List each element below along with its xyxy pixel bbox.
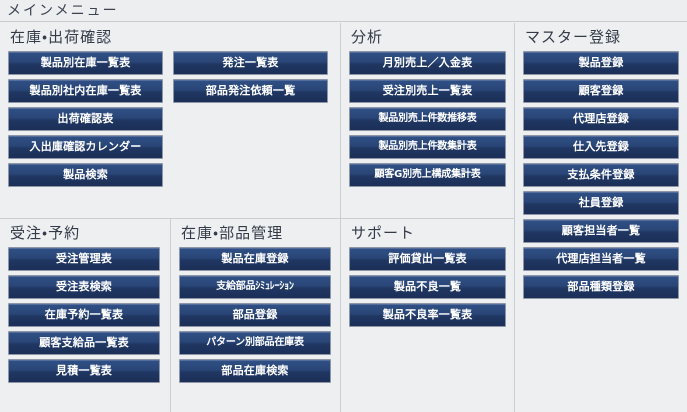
top-panel-row: 在庫・出荷確認 製品別在庫一覧表 製品別社内在庫一覧表 出荷確認表 入出庫確認カ… [0,23,514,218]
menu-button-parts-stock-by-pattern[interactable]: パターン別部品在庫表 [179,331,331,355]
menu-button-product-internal-stock-list[interactable]: 製品別社内在庫一覧表 [8,79,163,103]
panel-support: サポート 評価貸出一覧表 製品不良一覧 製品不良率一覧表 [340,219,514,412]
menu-button-evaluation-loan-list[interactable]: 評価貸出一覧表 [349,247,506,271]
left-column-area: 在庫・出荷確認 製品別在庫一覧表 製品別社内在庫一覧表 出荷確認表 入出庫確認カ… [0,23,514,412]
button-columns: 受注管理表 受注表検索 在庫予約一覧表 顧客支給品一覧表 見積一覧表 [8,247,162,383]
menu-button-product-defect-rate-list[interactable]: 製品不良率一覧表 [349,303,506,327]
menu-button-supplier-registration[interactable]: 仕入先登録 [523,135,679,159]
menu-button-parts-order-request-list[interactable]: 部品発注依頼一覧 [173,79,328,103]
menu-button-product-search[interactable]: 製品検索 [8,163,163,187]
button-column-primary: 製品在庫登録 支給部品ｼﾐｭﾚｰｼｮﾝ 部品登録 パターン別部品在庫表 部品在庫… [179,247,331,383]
menu-button-product-registration[interactable]: 製品登録 [523,51,679,75]
menu-button-stock-reservation-list[interactable]: 在庫予約一覧表 [8,303,160,327]
panel-inventory-parts: 在庫・部品管理 製品在庫登録 支給部品ｼﾐｭﾚｰｼｮﾝ 部品登録 パターン別部品… [170,219,340,412]
button-column-primary: 製品登録 顧客登録 代理店登録 仕入先登録 支払条件登録 社員登録 顧客担当者一… [523,51,679,299]
panel-title-inventory-parts: 在庫・部品管理 [181,225,332,242]
menu-button-agency-registration[interactable]: 代理店登録 [523,107,679,131]
panel-title-master-registration: マスター登録 [525,29,679,46]
page-title: メインメニュー [7,4,119,18]
menu-button-product-sales-count-trend[interactable]: 製品別売上件数推移表 [349,107,506,131]
panel-title-inventory-shipping: 在庫・出荷確認 [10,29,332,46]
menu-button-quotation-list[interactable]: 見積一覧表 [8,359,160,383]
menu-button-product-defect-list[interactable]: 製品不良一覧 [349,275,506,299]
button-columns: 月別売上／入金表 受注別売上一覧表 製品別売上件数推移表 製品別売上件数集計表 … [349,51,506,187]
menu-button-order-management[interactable]: 受注管理表 [8,247,160,271]
button-column-primary: 月別売上／入金表 受注別売上一覧表 製品別売上件数推移表 製品別売上件数集計表 … [349,51,506,187]
button-column-secondary: 発注一覧表 部品発注依頼一覧 [173,51,328,187]
menu-button-customer-supplied-items-list[interactable]: 顧客支給品一覧表 [8,331,160,355]
button-columns: 評価貸出一覧表 製品不良一覧 製品不良率一覧表 [349,247,506,327]
button-columns: 製品登録 顧客登録 代理店登録 仕入先登録 支払条件登録 社員登録 顧客担当者一… [523,51,679,299]
panel-title-analysis: 分析 [351,29,506,46]
button-column-primary: 製品別在庫一覧表 製品別社内在庫一覧表 出荷確認表 入出庫確認カレンダー 製品検… [8,51,163,187]
main-menu-screen: メインメニュー 在庫・出荷確認 製品別在庫一覧表 製品別社内在庫一覧表 出荷確認… [0,0,687,412]
menu-button-purchase-order-list[interactable]: 発注一覧表 [173,51,328,75]
menu-board: 在庫・出荷確認 製品別在庫一覧表 製品別社内在庫一覧表 出荷確認表 入出庫確認カ… [0,23,687,412]
menu-button-customer-group-sales-composition[interactable]: 顧客G別売上構成集計表 [349,163,506,187]
menu-button-product-stock-registration[interactable]: 製品在庫登録 [179,247,331,271]
button-columns: 製品別在庫一覧表 製品別社内在庫一覧表 出荷確認表 入出庫確認カレンダー 製品検… [8,51,332,187]
panel-orders-reservation: 受注・予約 受注管理表 受注表検索 在庫予約一覧表 顧客支給品一覧表 見積一覧表 [0,219,170,412]
menu-button-agency-contacts-list[interactable]: 代理店担当者一覧 [523,247,679,271]
menu-button-parts-type-registration[interactable]: 部品種類登録 [523,275,679,299]
menu-button-supplied-parts-simulation[interactable]: 支給部品ｼﾐｭﾚｰｼｮﾝ [179,275,331,299]
menu-button-order-search[interactable]: 受注表検索 [8,275,160,299]
menu-button-sales-by-order-list[interactable]: 受注別売上一覧表 [349,79,506,103]
menu-button-product-sales-count-summary[interactable]: 製品別売上件数集計表 [349,135,506,159]
panel-title-support: サポート [351,225,506,242]
menu-button-customer-registration[interactable]: 顧客登録 [523,79,679,103]
button-column-primary: 受注管理表 受注表検索 在庫予約一覧表 顧客支給品一覧表 見積一覧表 [8,247,160,383]
bottom-panel-row: 受注・予約 受注管理表 受注表検索 在庫予約一覧表 顧客支給品一覧表 見積一覧表… [0,218,514,412]
app-header: メインメニュー [0,0,687,22]
menu-button-shipping-confirmation[interactable]: 出荷確認表 [8,107,163,131]
menu-button-employee-registration[interactable]: 社員登録 [523,191,679,215]
button-column-primary: 評価貸出一覧表 製品不良一覧 製品不良率一覧表 [349,247,506,327]
menu-button-payment-terms-registration[interactable]: 支払条件登録 [523,163,679,187]
panel-title-orders-reservation: 受注・予約 [10,225,162,242]
menu-button-warehouse-calendar[interactable]: 入出庫確認カレンダー [8,135,163,159]
button-columns: 製品在庫登録 支給部品ｼﾐｭﾚｰｼｮﾝ 部品登録 パターン別部品在庫表 部品在庫… [179,247,332,383]
menu-button-monthly-sales-payment[interactable]: 月別売上／入金表 [349,51,506,75]
menu-button-parts-registration[interactable]: 部品登録 [179,303,331,327]
panel-analysis: 分析 月別売上／入金表 受注別売上一覧表 製品別売上件数推移表 製品別売上件数集… [340,23,514,218]
panel-inventory-shipping: 在庫・出荷確認 製品別在庫一覧表 製品別社内在庫一覧表 出荷確認表 入出庫確認カ… [0,23,340,218]
panel-master-registration: マスター登録 製品登録 顧客登録 代理店登録 仕入先登録 支払条件登録 社員登録… [514,23,687,412]
menu-button-product-stock-list[interactable]: 製品別在庫一覧表 [8,51,163,75]
menu-button-parts-stock-search[interactable]: 部品在庫検索 [179,359,331,383]
menu-button-customer-contacts-list[interactable]: 顧客担当者一覧 [523,219,679,243]
